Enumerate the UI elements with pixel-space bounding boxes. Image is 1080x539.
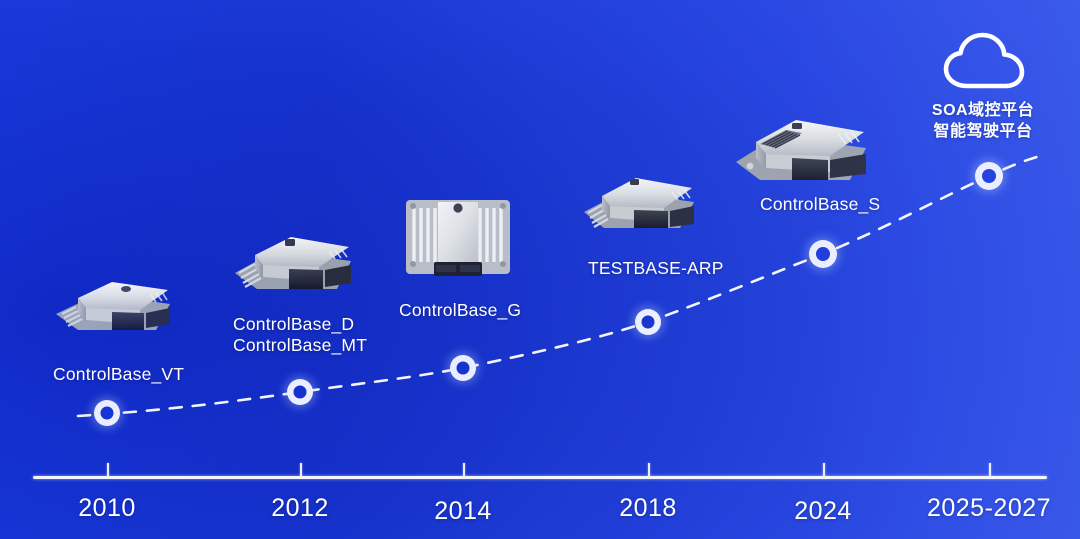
tick-2014 xyxy=(463,463,465,477)
timeline-infographic: ControlBase_VT ControlBase_D ControlBase… xyxy=(0,0,1080,539)
label-controlbase-vt-line1: ControlBase_VT xyxy=(53,364,184,385)
label-controlbase-d: ControlBase_D xyxy=(233,314,367,335)
label-controlbase-g-line1: ControlBase_G xyxy=(399,300,521,321)
node-2025-2027[interactable] xyxy=(975,162,1003,190)
tick-2025-2027 xyxy=(989,463,991,477)
node-2010-center xyxy=(101,407,114,420)
tick-2010 xyxy=(107,463,109,477)
year-label-2010: 2010 xyxy=(78,494,136,523)
product-image-controlbase-d-mt xyxy=(231,223,357,301)
label-testbase-arp-line1: TESTBASE-ARP xyxy=(588,258,724,279)
timeline-axis xyxy=(33,476,1047,479)
cloud-icon xyxy=(941,30,1037,97)
node-2014[interactable] xyxy=(450,355,476,381)
label-controlbase-vt: ControlBase_VT xyxy=(53,364,184,385)
year-label-2024: 2024 xyxy=(794,497,852,526)
product-image-controlbase-s xyxy=(730,110,872,192)
year-label-2018: 2018 xyxy=(619,494,677,523)
tick-2024 xyxy=(823,463,825,477)
tick-2018 xyxy=(648,463,650,477)
label-controlbase-s-line1: ControlBase_S xyxy=(760,194,880,215)
product-image-controlbase-g xyxy=(400,196,516,280)
node-2012-center xyxy=(294,386,307,399)
node-2010[interactable] xyxy=(94,400,120,426)
label-soa-line2: 智能驾驶平台 xyxy=(932,121,1034,142)
node-2024[interactable] xyxy=(809,240,837,268)
label-controlbase-d-mt: ControlBase_D ControlBase_MT xyxy=(233,314,367,356)
label-controlbase-mt: ControlBase_MT xyxy=(233,335,367,356)
label-controlbase-g: ControlBase_G xyxy=(399,300,521,321)
product-image-testbase-arp xyxy=(580,166,698,240)
node-2012[interactable] xyxy=(287,379,313,405)
node-2014-center xyxy=(457,362,470,375)
label-testbase-arp: TESTBASE-ARP xyxy=(588,258,724,279)
product-image-controlbase-vt xyxy=(52,268,176,342)
node-2018-center xyxy=(642,316,655,329)
year-label-2012: 2012 xyxy=(271,494,329,523)
node-2025-2027-center xyxy=(982,169,996,183)
year-label-2014: 2014 xyxy=(434,497,492,526)
tick-2012 xyxy=(300,463,302,477)
label-controlbase-s: ControlBase_S xyxy=(760,194,880,215)
label-soa-platform: SOA域控平台 智能驾驶平台 xyxy=(932,100,1034,142)
node-2018[interactable] xyxy=(635,309,661,335)
year-label-2025-2027: 2025-2027 xyxy=(927,494,1051,523)
label-soa-line1: SOA域控平台 xyxy=(932,100,1034,121)
node-2024-center xyxy=(816,247,830,261)
